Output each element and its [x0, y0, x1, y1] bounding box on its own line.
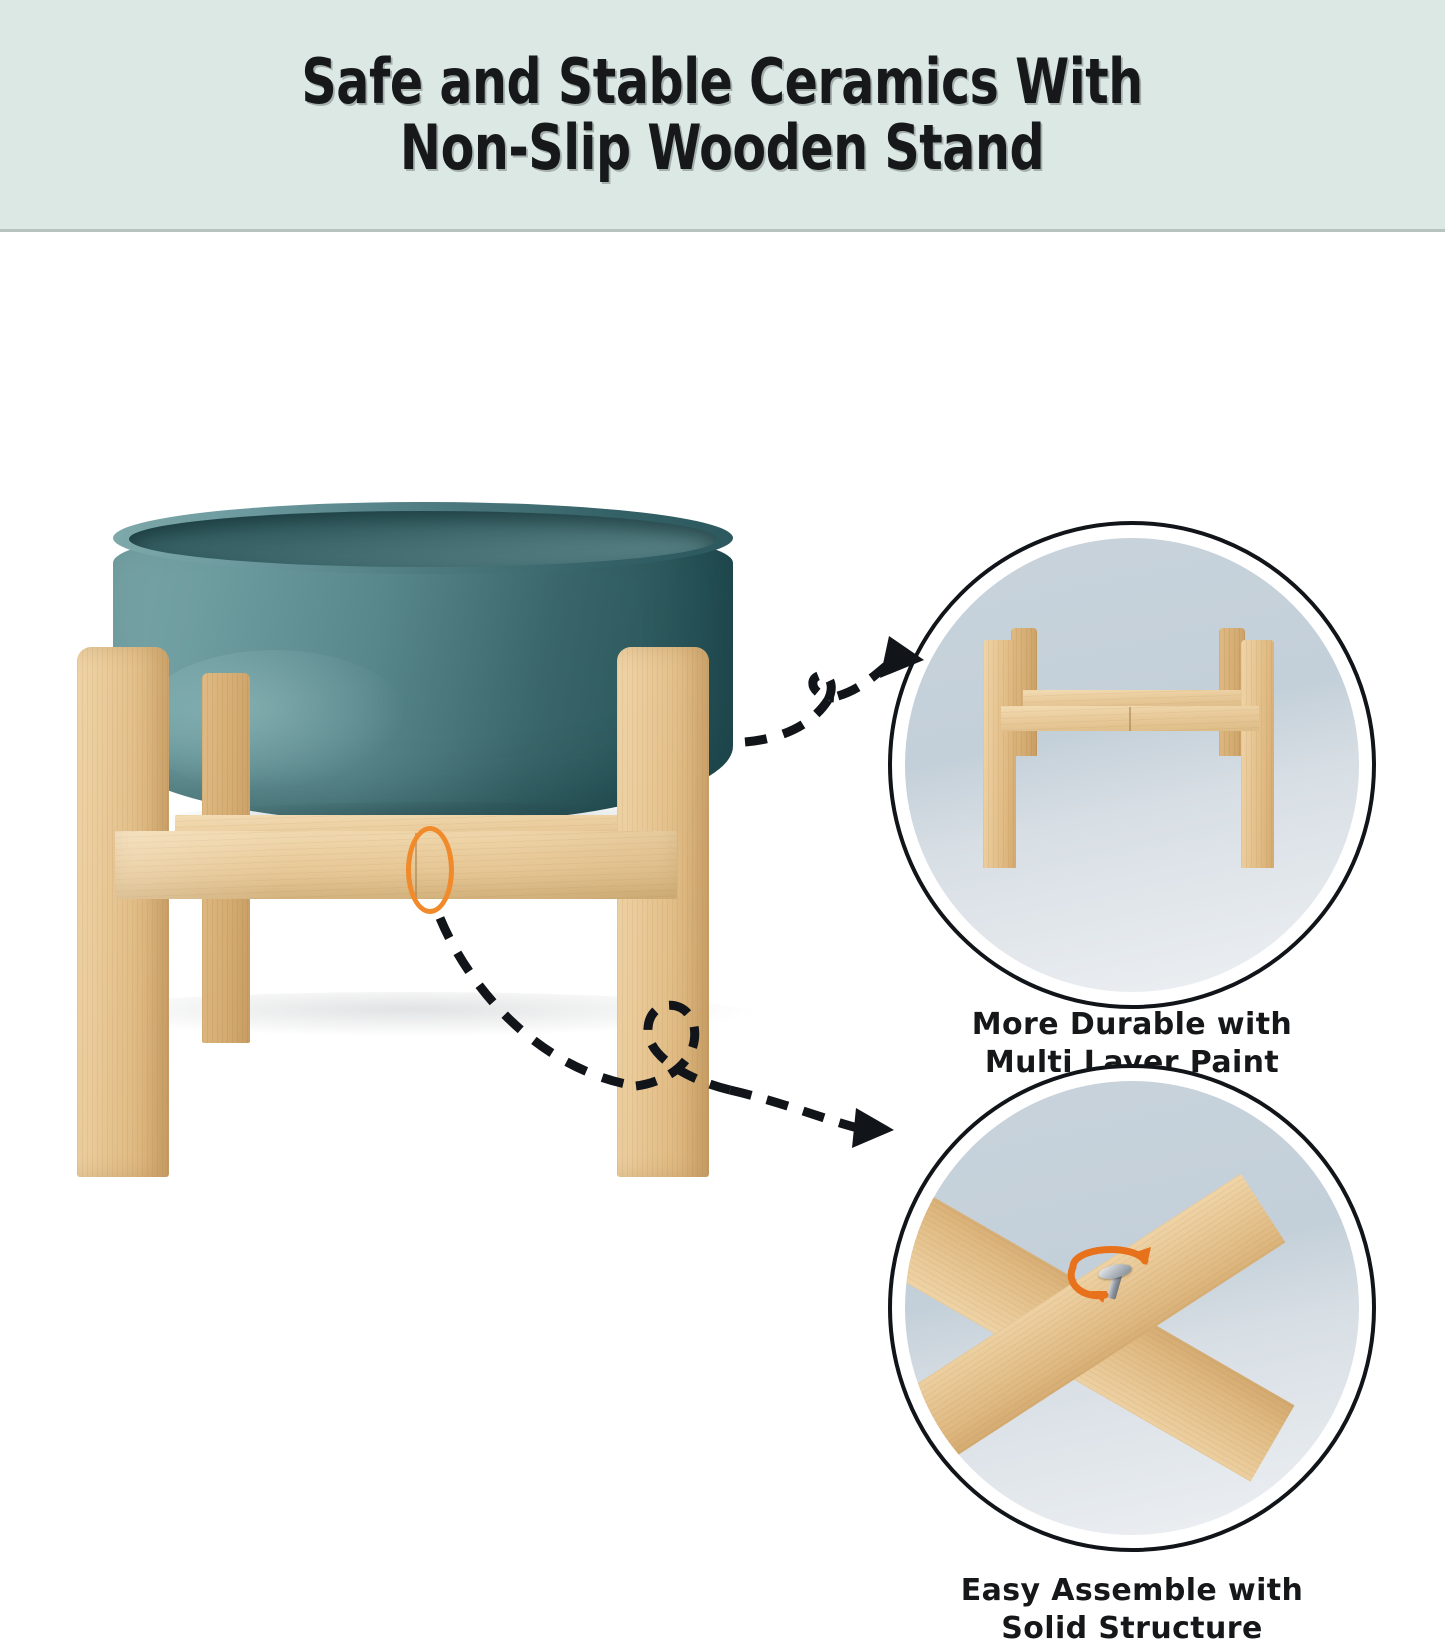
bowl-rim	[113, 502, 733, 574]
mini-bamboo-stand	[983, 628, 1293, 898]
rotation-arrow-icon	[1055, 1233, 1161, 1309]
inset-bottom-photo	[905, 1081, 1359, 1535]
stand-leg-front-left	[77, 647, 169, 1177]
caption-bottom: Easy Assemble with Solid Structure	[882, 1572, 1382, 1648]
product-stage: More Durable with Multi Layer Paint Easy…	[0, 232, 1445, 1410]
stand-leg-front-right	[617, 647, 709, 1177]
mini-leg-front-right	[1241, 640, 1274, 868]
mini-rail-joint	[1129, 707, 1131, 731]
stand-rail-front	[115, 831, 677, 899]
highlight-ellipse-joint	[406, 826, 454, 914]
mini-leg-front-left	[983, 640, 1016, 868]
bowl-interior	[129, 511, 717, 567]
inset-top-durable-paint	[888, 521, 1376, 1009]
bamboo-stand	[55, 647, 775, 1192]
page-title: Safe and Stable Ceramics With Non-Slip W…	[302, 49, 1143, 180]
header-banner: Safe and Stable Ceramics With Non-Slip W…	[0, 0, 1445, 232]
inset-bottom-easy-assemble	[888, 1064, 1376, 1552]
inset-top-photo	[905, 538, 1359, 992]
